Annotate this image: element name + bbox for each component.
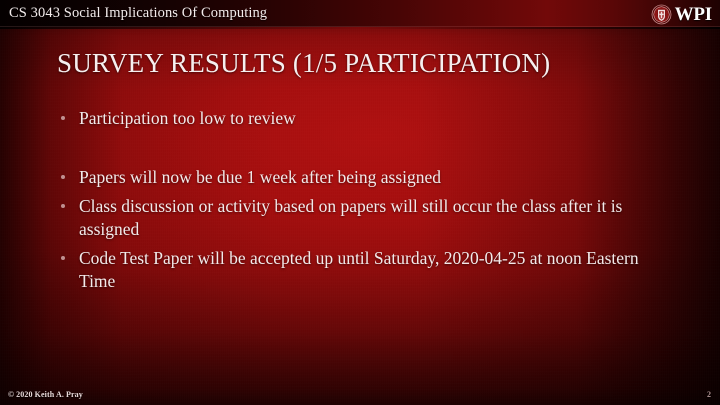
wpi-logo: WPI — [651, 2, 712, 26]
wpi-seal-icon — [651, 4, 672, 25]
bullet-item: Participation too low to review — [57, 107, 672, 130]
bullet-item: Papers will now be due 1 week after bein… — [57, 166, 672, 189]
bullet-dot-icon — [61, 175, 65, 179]
slide-body: Participation too low to review Papers w… — [57, 107, 672, 299]
bullet-dot-icon — [61, 204, 65, 208]
presentation-slide: CS 3043 Social Implications Of Computing… — [0, 0, 720, 405]
copyright-notice: © 2020 Keith A. Pray — [8, 389, 83, 400]
bullet-text: Class discussion or activity based on pa… — [79, 196, 622, 239]
slide-title: SURVEY RESULTS (1/5 PARTICIPATION) — [57, 46, 677, 80]
bullet-item: Code Test Paper will be accepted up unti… — [57, 247, 672, 292]
slide-header-bar: CS 3043 Social Implications Of Computing… — [0, 0, 720, 27]
bullet-text: Code Test Paper will be accepted up unti… — [79, 248, 639, 291]
bullet-dot-icon — [61, 116, 65, 120]
wpi-wordmark: WPI — [675, 5, 712, 24]
bullet-text: Participation too low to review — [79, 108, 296, 128]
course-title: CS 3043 Social Implications Of Computing — [9, 4, 267, 23]
bullet-item: Class discussion or activity based on pa… — [57, 195, 672, 240]
slide-number: 2 — [707, 389, 711, 400]
bullet-item-spacer — [57, 137, 672, 159]
bullet-dot-icon — [61, 256, 65, 260]
bullet-text: Papers will now be due 1 week after bein… — [79, 167, 441, 187]
